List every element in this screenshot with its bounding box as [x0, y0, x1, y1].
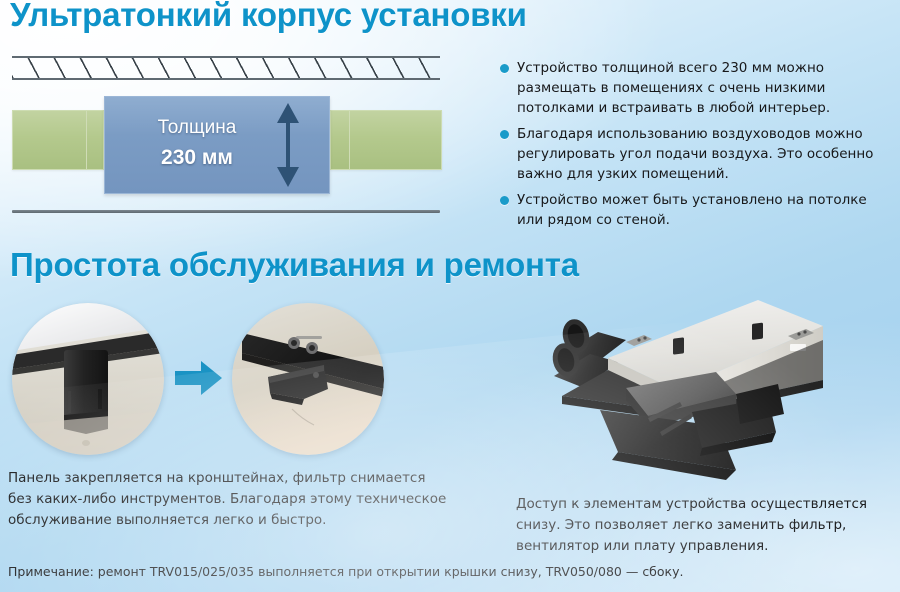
- footnote-repair-note: Примечание: ремонт TRV015/025/035 выполн…: [8, 563, 888, 581]
- list-item: Устройство толщиной всего 230 мм можно р…: [500, 58, 892, 118]
- thickness-diagram: Толщина 230 мм: [0, 52, 480, 222]
- ceiling-hatched-band: [12, 56, 440, 80]
- thickness-label: Толщина: [127, 113, 267, 143]
- thickness-value: 230 мм: [127, 143, 267, 173]
- bullet-text: Устройство может быть установлено на пот…: [517, 190, 892, 230]
- feature-bullet-list: Устройство толщиной всего 230 мм можно р…: [500, 58, 892, 236]
- double-arrow-vertical-icon: [275, 103, 301, 187]
- floor-line: [12, 210, 440, 213]
- bullet-text: Благодаря использованию воздуховодов мож…: [517, 124, 892, 184]
- bullet-text: Устройство толщиной всего 230 мм можно р…: [517, 58, 892, 118]
- caption-left-maintenance: Панель закрепляется на кронштейнах, филь…: [8, 468, 448, 531]
- photo-ventilation-unit-open-bottom-panel: [540, 292, 890, 484]
- list-item: Благодаря использованию воздуховодов мож…: [500, 124, 892, 184]
- photo-panel-bracket-closeup: [12, 303, 164, 455]
- duct-left: [12, 110, 104, 170]
- photo-bracket-released-closeup: [232, 303, 384, 455]
- duct-left-seam: [86, 111, 87, 169]
- section-title-easy-service: Простота обслуживания и ремонта: [10, 246, 579, 284]
- unit-body-box: Толщина 230 мм: [104, 96, 330, 194]
- bullet-dot-icon: [500, 130, 509, 139]
- slide-canvas: Ультратонкий корпус установки Толщина 23…: [0, 0, 900, 592]
- transition-arrow-right-icon: [175, 358, 223, 398]
- bullet-dot-icon: [500, 64, 509, 73]
- ceiling-bottom-line: [12, 78, 440, 80]
- section-title-ultra-thin: Ультратонкий корпус установки: [10, 0, 527, 34]
- duct-right: [330, 110, 442, 170]
- caption-right-access: Доступ к элементам устройства осуществля…: [516, 494, 896, 557]
- list-item: Устройство может быть установлено на пот…: [500, 190, 892, 230]
- ceiling-hatch-fill: [12, 58, 440, 78]
- duct-right-seam: [349, 111, 350, 169]
- bullet-dot-icon: [500, 196, 509, 205]
